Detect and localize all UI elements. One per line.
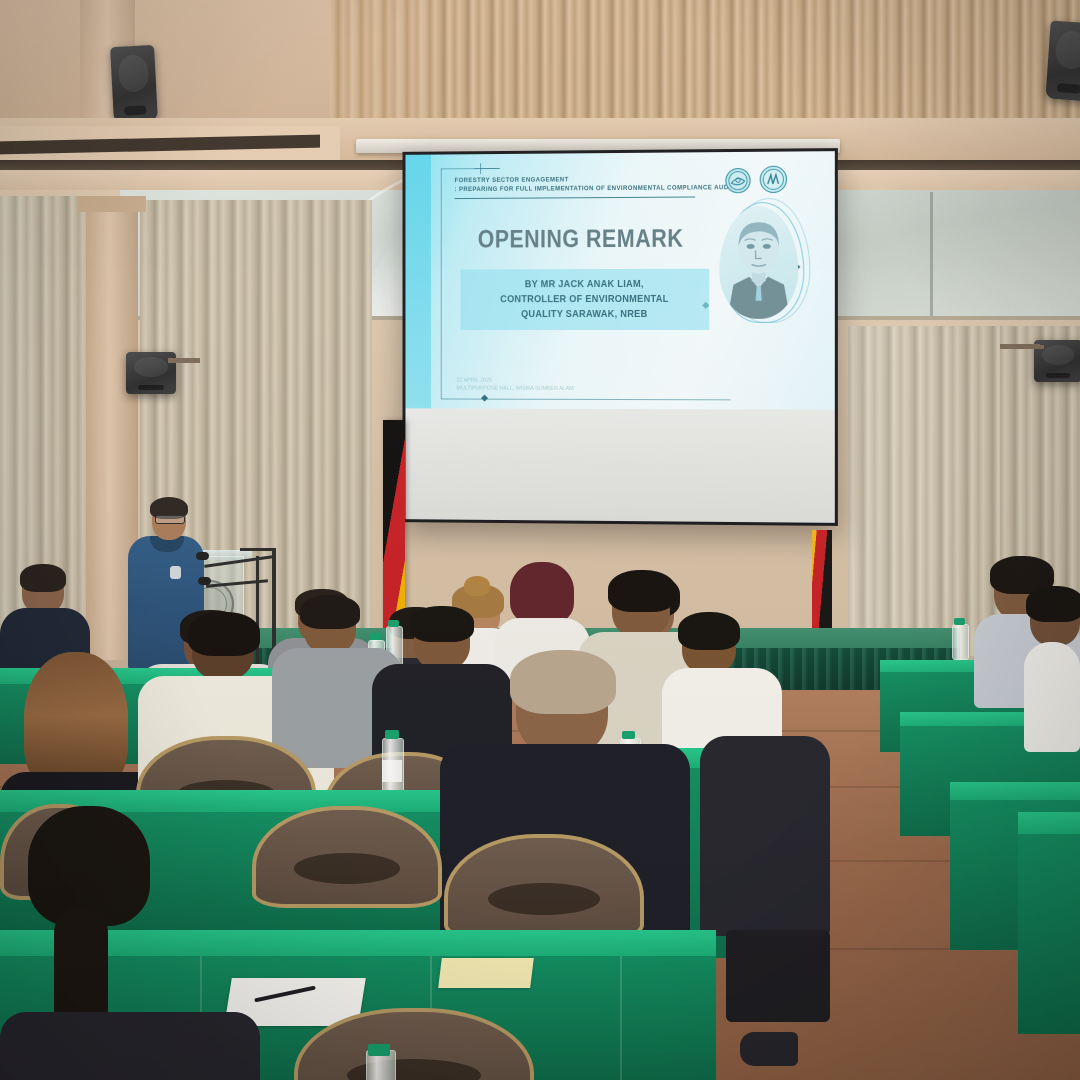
attendee-torso bbox=[0, 1012, 260, 1080]
slide-footer: 22 APRIL 2025 MULTIPURPOSE HALL, WISMA S… bbox=[456, 377, 573, 393]
ceiling-speaker-right bbox=[1045, 20, 1080, 101]
portrait-oval bbox=[719, 206, 798, 319]
presenter-glasses bbox=[155, 515, 185, 524]
presenter-badge bbox=[170, 566, 181, 579]
attendee-foreground-woman bbox=[0, 806, 260, 1080]
chair-cutout bbox=[488, 883, 600, 915]
chair-row3-2 bbox=[444, 834, 644, 940]
slide-subtitle-line3: QUALITY SARAWAK, NREB bbox=[480, 307, 688, 322]
attendee-hair bbox=[410, 606, 474, 642]
wall-speaker-arm-left bbox=[168, 358, 200, 363]
attendee-hair bbox=[1026, 586, 1080, 622]
chair-foreground bbox=[294, 1008, 534, 1080]
wood-slat-ceiling-right bbox=[430, 0, 1080, 128]
attendee-hair bbox=[188, 612, 260, 656]
attendee-torso bbox=[1024, 642, 1080, 752]
slide-tick-top-h bbox=[474, 168, 500, 169]
slide-accent-band bbox=[405, 155, 430, 415]
water-bottle-rear-1 bbox=[952, 624, 969, 660]
ceiling-left-panel bbox=[0, 0, 330, 132]
nreb-logo-icon bbox=[725, 168, 750, 193]
attendee-hair-bun bbox=[464, 576, 490, 596]
chair-cutout bbox=[294, 853, 400, 884]
attendee-hair bbox=[608, 570, 676, 612]
slide-footer-line2: MULTIPURPOSE HALL, WISMA SUMBER ALAM bbox=[456, 385, 573, 393]
yellow-note-card bbox=[438, 958, 534, 988]
projection-screen: FORESTRY SECTOR ENGAGEMENT : PREPARING F… bbox=[403, 148, 838, 526]
glass-mullion-3 bbox=[930, 192, 933, 318]
attendee-hair bbox=[510, 650, 616, 714]
attendee-hair bbox=[678, 612, 740, 650]
mic-stand-tall-boom bbox=[240, 548, 276, 551]
slide-footer-line1: 22 APRIL 2025 bbox=[456, 377, 573, 385]
wall-pillar-cap bbox=[78, 196, 146, 212]
ceiling-speaker-left bbox=[110, 45, 158, 123]
sarawak-flag-right bbox=[812, 530, 832, 638]
bottle-cap bbox=[954, 618, 965, 625]
bottle-cap bbox=[368, 1044, 390, 1056]
slide-kicker-line2: : PREPARING FOR FULL IMPLEMENTATION OF E… bbox=[455, 183, 693, 194]
speaker-portrait bbox=[719, 206, 798, 319]
slide-subtitle-line2: CONTROLLER OF ENVIRONMENTAL bbox=[480, 292, 688, 307]
microphone-head-1 bbox=[196, 552, 209, 560]
attendee-hair bbox=[510, 562, 574, 624]
conference-hall-photo: FORESTRY SECTOR ENGAGEMENT : PREPARING F… bbox=[0, 0, 1080, 1080]
microphone-head-2 bbox=[198, 577, 211, 585]
attendee-right-column-2 bbox=[1024, 592, 1080, 732]
table-fold-3 bbox=[620, 956, 622, 1080]
backpack-on-floor bbox=[726, 930, 830, 1022]
attendee-hair bbox=[300, 595, 360, 629]
presentation-slide: FORESTRY SECTOR ENGAGEMENT : PREPARING F… bbox=[405, 151, 834, 416]
slide-title: OPENING REMARK bbox=[465, 225, 696, 255]
slide-subtitle-line1: BY MR JACK ANAK LIAM, bbox=[480, 277, 688, 292]
screen-blank-area bbox=[405, 408, 834, 523]
sarawak-agency-logo-icon bbox=[760, 166, 787, 193]
table-drop-foremost-right bbox=[1018, 834, 1080, 1034]
projector-arm bbox=[1000, 345, 1044, 349]
attendee-hair bbox=[20, 564, 66, 592]
shoe-right bbox=[740, 1032, 798, 1066]
chair-row3-1 bbox=[252, 806, 442, 908]
bottle-cap bbox=[385, 730, 399, 739]
slide-kicker: FORESTRY SECTOR ENGAGEMENT : PREPARING F… bbox=[455, 174, 714, 194]
slide-subtitle-box: BY MR JACK ANAK LIAM, CONTROLLER OF ENVI… bbox=[460, 269, 709, 330]
attendee-torso bbox=[700, 736, 830, 936]
bottle-label bbox=[382, 760, 402, 782]
